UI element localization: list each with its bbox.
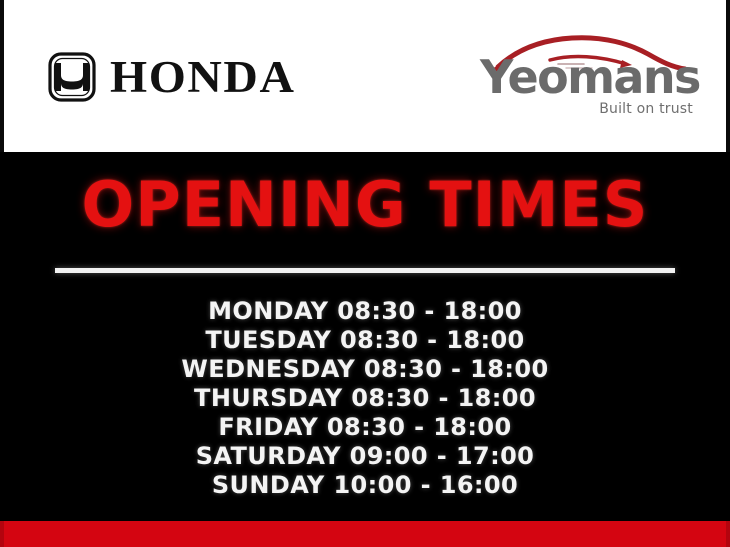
yeomans-wordmark: Yeomans xyxy=(480,54,695,100)
list-item: SUNDAY 10:00 - 16:00 xyxy=(0,471,730,500)
honda-logo: HONDA xyxy=(48,52,285,102)
yeomans-tagline: Built on trust xyxy=(599,102,693,116)
list-item: WEDNESDAY 08:30 - 18:00 xyxy=(0,355,730,384)
opening-hours-list: MONDAY 08:30 - 18:00 TUESDAY 08:30 - 18:… xyxy=(0,297,730,500)
list-item: MONDAY 08:30 - 18:00 xyxy=(0,297,730,326)
page-title: OPENING TIMES xyxy=(0,174,730,236)
headline-divider xyxy=(55,268,675,273)
honda-h-emblem-icon xyxy=(48,52,96,102)
list-item: FRIDAY 08:30 - 18:00 xyxy=(0,413,730,442)
header-band: HONDA Yeomans Built xyxy=(0,0,730,152)
yeomans-logo: Yeomans Built on trust xyxy=(480,34,695,118)
list-item: THURSDAY 08:30 - 18:00 xyxy=(0,384,730,413)
list-item: TUESDAY 08:30 - 18:00 xyxy=(0,326,730,355)
honda-wordmark: HONDA xyxy=(110,55,296,100)
footer-accent-bar xyxy=(0,521,730,547)
list-item: SATURDAY 09:00 - 17:00 xyxy=(0,442,730,471)
main-panel: OPENING TIMES MONDAY 08:30 - 18:00 TUESD… xyxy=(0,152,730,521)
opening-times-poster: HONDA Yeomans Built xyxy=(0,0,730,547)
